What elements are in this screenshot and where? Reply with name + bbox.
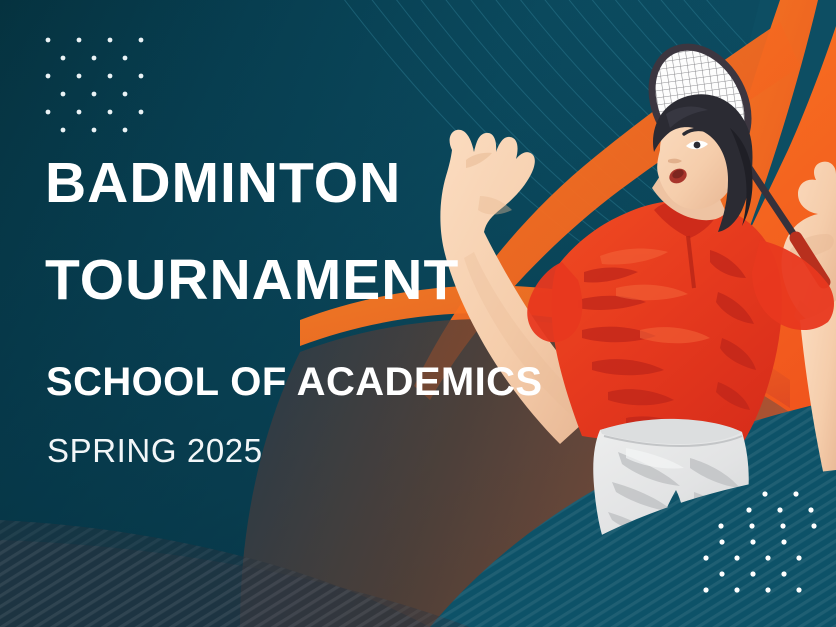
poster-artwork <box>0 0 836 627</box>
poster-subtitle: SCHOOL OF ACADEMICS <box>46 360 543 405</box>
poster-canvas: BADMINTON TOURNAMENT SCHOOL OF ACADEMICS… <box>0 0 836 627</box>
poster-title-line-1: BADMINTON <box>45 155 401 212</box>
poster-season: SPRING 2025 <box>47 432 263 470</box>
poster-title-line-2: TOURNAMENT <box>45 252 459 309</box>
